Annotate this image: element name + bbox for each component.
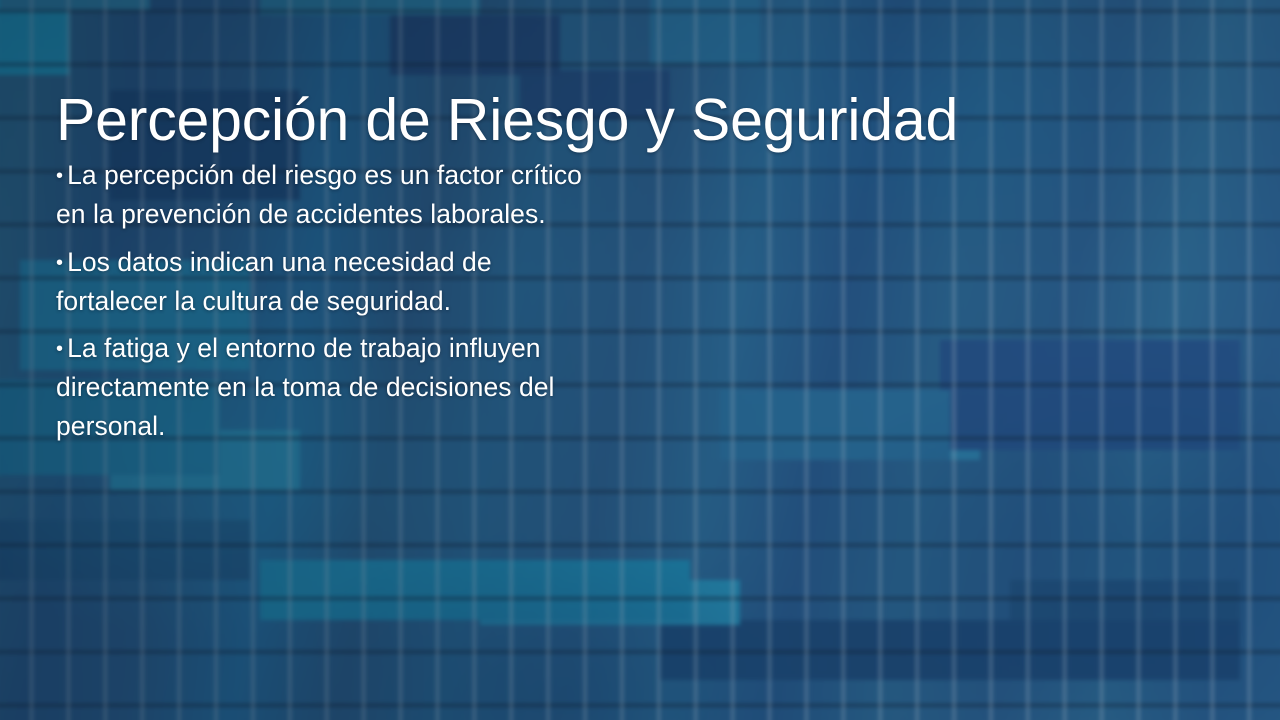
bullet-item-2: •Los datos indican una necesidad de fort… bbox=[56, 243, 584, 321]
bullet-item-2-text: Los datos indican una necesidad de forta… bbox=[56, 247, 492, 316]
bullet-item-3-text: La fatiga y el entorno de trabajo influy… bbox=[56, 333, 555, 441]
bullet-marker-icon: • bbox=[56, 338, 67, 360]
bullet-item-1: •La percepción del riesgo es un factor c… bbox=[56, 156, 584, 234]
bullet-marker-icon: • bbox=[56, 165, 67, 187]
bullet-item-1-text: La percepción del riesgo es un factor cr… bbox=[56, 160, 582, 229]
presentation-slide: Percepción de Riesgo y Seguridad •La per… bbox=[0, 0, 1280, 720]
bullet-marker-icon: • bbox=[56, 252, 67, 274]
slide-body-bullet-list: •La percepción del riesgo es un factor c… bbox=[56, 156, 584, 445]
slide-title: Percepción de Riesgo y Seguridad bbox=[56, 91, 1176, 150]
slide-content: Percepción de Riesgo y Seguridad •La per… bbox=[0, 0, 1280, 720]
bullet-item-3: •La fatiga y el entorno de trabajo influ… bbox=[56, 329, 584, 445]
